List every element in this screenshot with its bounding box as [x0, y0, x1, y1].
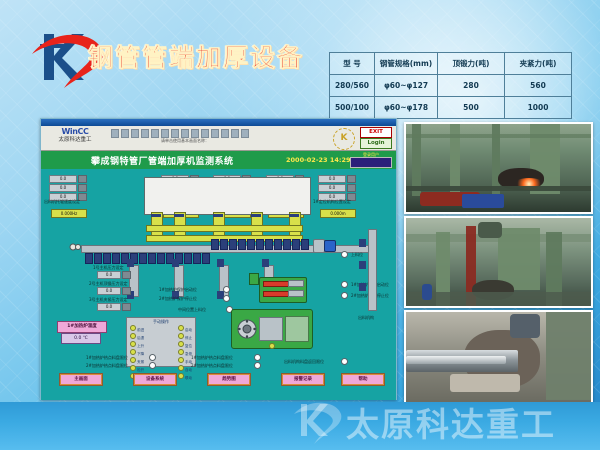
cell-upset: 280 [438, 75, 505, 97]
indicator-lamp [254, 362, 261, 369]
status-lamp-label: 出料机构料盘返回限位 [284, 359, 324, 365]
drive-motor [324, 240, 336, 252]
status-lamp-label: 1#加热炉热点料盘限位 [86, 355, 128, 361]
watermark-logo-icon [292, 400, 342, 444]
slide-canvas: 钢管管端加厚设备 型 号 钢管规格(mm) 顶锻力(吨) 夹紧力(吨) 280/… [0, 0, 600, 450]
valve-icon [69, 243, 81, 251]
panel-item-label[interactable]: 停止 [185, 336, 192, 340]
toolbar-icon[interactable] [241, 129, 249, 138]
photo-pipe-end [404, 310, 593, 406]
indicator-lamp [178, 349, 184, 355]
spec-header-clamp-force: 夹紧力(吨) [505, 53, 572, 75]
furnace-vessel [144, 177, 311, 215]
toolbar-icon[interactable] [161, 129, 169, 138]
unit-tag [122, 303, 131, 311]
hmi-button-system[interactable]: 设备系统 [133, 373, 177, 386]
toolbar-icon[interactable] [221, 129, 229, 138]
value-field[interactable]: 0.0 [49, 175, 77, 183]
unit-tag [347, 184, 356, 192]
value-group-0: 0.0 0.0 0.0 [49, 175, 87, 202]
hmi-button-bar: 主画面 设备系统 趋势图 报警记录 帮助 [41, 373, 396, 389]
setpoint-value[interactable]: 0.0 [97, 303, 121, 311]
clamp [359, 283, 366, 291]
spec-table-header-row: 型 号 钢管规格(mm) 顶锻力(吨) 夹紧力(吨) [330, 53, 572, 75]
wincc-logo: WinCC 太原科达重工 [44, 127, 106, 149]
setpoint-value[interactable]: 0.0 [97, 287, 121, 295]
center-note: 中间位置上料位 [178, 307, 206, 313]
indicator-lamp [341, 292, 348, 299]
indicator-lamp [341, 251, 348, 258]
flywheel-icon [237, 319, 257, 339]
indicator-lamp [130, 325, 136, 331]
indicator-lamp [341, 281, 348, 288]
hmi-button-help[interactable]: 帮助 [341, 373, 385, 386]
user-box: 登录用户 [350, 152, 392, 168]
status-label: 2#加热炉保护停止位 [159, 296, 197, 302]
value-group-caption: 1#定位机构位置设定 [313, 199, 351, 205]
panel-item-label[interactable]: 松开 [137, 368, 144, 372]
spec-table: 型 号 钢管规格(mm) 顶锻力(吨) 夹紧力(吨) 280/560 φ60~φ… [329, 52, 572, 119]
login-button[interactable]: Login [360, 138, 392, 149]
right-caption: 出料机构 [358, 315, 374, 321]
panel-item-label[interactable]: 后退 [137, 336, 144, 340]
panel-item-label[interactable]: 复位 [185, 344, 192, 348]
column-marker [174, 214, 184, 217]
status-lamp-label: 2#加热炉热点料盘限位 [86, 363, 128, 369]
panel-item-label[interactable]: 启动 [185, 328, 192, 332]
clamp [359, 239, 366, 247]
clamp [262, 259, 269, 267]
solenoid [249, 273, 259, 285]
table-row: 280/560 φ60~φ127 280 560 [330, 75, 572, 97]
value-display: 0.000m [320, 209, 356, 218]
cell-size: φ60~φ127 [375, 75, 438, 97]
indicator-lamp [130, 349, 136, 355]
indicator-lamp [223, 286, 230, 293]
indicator-lamp [178, 365, 184, 371]
temperature-value: 0.0 ℃ [61, 333, 101, 344]
machine-frame [259, 317, 283, 341]
clamp [127, 259, 134, 267]
toolbar-icon[interactable] [231, 129, 239, 138]
column-marker [213, 214, 223, 217]
setpoint-value[interactable]: 0.0 [97, 271, 121, 279]
temperature-label: 1#加热炉温度 [57, 321, 107, 333]
cell-model: 500/100 [330, 97, 375, 119]
indicator-lamp [178, 341, 184, 347]
indicator-lamp [254, 354, 261, 361]
hmi-window-titlebar [41, 119, 396, 126]
exit-button[interactable]: EXIT [360, 127, 392, 138]
wincc-sublabel: 太原科达重工 [44, 136, 106, 144]
indicator-lamp [341, 358, 348, 365]
hmi-title-bar: 攀成钢特管厂管端加厚机监测系统 2000-02-23 14:29:24 登录用户 [41, 151, 396, 169]
toolbar-icon[interactable] [211, 129, 219, 138]
discharge-column [368, 229, 377, 311]
indicator-lamp [178, 333, 184, 339]
setpoint-row: 0.0 [97, 303, 131, 311]
machine-guard [285, 316, 309, 342]
panel-item-label[interactable]: 上升 [137, 344, 144, 348]
indicator-lamp [130, 341, 136, 347]
panel-item-label[interactable]: 前进 [137, 328, 144, 332]
valve-port [288, 280, 304, 287]
unit-tag [78, 184, 87, 192]
valve-indicator [263, 281, 289, 287]
toolbar-icon-group[interactable] [111, 129, 249, 138]
hmi-mimic-diagram: 0.0 0.0 0.0 出料机托辊速度设定 0.000Hz 0.0 0.0 0.… [41, 169, 396, 400]
toolbar-icon[interactable] [171, 129, 179, 138]
hmi-button-trend[interactable]: 趋势图 [207, 373, 251, 386]
spec-header-model: 型 号 [330, 53, 375, 75]
clamp [359, 261, 366, 269]
value-display: 0.000Hz [51, 209, 87, 218]
indicator-lamp [178, 357, 184, 363]
indicator-lamp [130, 333, 136, 339]
column-marker [151, 214, 161, 217]
hmi-toolbar: WinCC 太原科达重工 请单击使用基本画面名称： K EXIT Login [41, 126, 396, 151]
value-group-caption: 出料机托辊速度设定 [44, 199, 80, 205]
watermark: 太原科达重工 [290, 396, 600, 450]
indicator-lamp [149, 362, 156, 369]
unit-tag [78, 175, 87, 183]
column-marker [289, 214, 299, 217]
hmi-screenshot: WinCC 太原科达重工 请单击使用基本画面名称： K EXIT Login 攀… [40, 118, 397, 400]
toolbar-icon[interactable] [151, 129, 159, 138]
toolbar-note: 请单击使用基本画面名称： [161, 138, 209, 144]
indicator-lamp [269, 343, 275, 349]
toolbar-icon[interactable] [191, 129, 199, 138]
valve-port [288, 290, 304, 297]
indicator-lamp [130, 365, 136, 371]
hmi-button-main[interactable]: 主画面 [59, 373, 103, 386]
status-lamp-label: 2#加热炉热点料盘限位 [191, 363, 233, 369]
indicator-lamp [223, 295, 230, 302]
toolbar-icon[interactable] [181, 129, 189, 138]
indicator-lamp [130, 357, 136, 363]
setpoint-row: 0.0 [97, 287, 131, 295]
indicator-lamp [178, 325, 184, 331]
cell-clamp: 560 [505, 75, 572, 97]
value-row: 0.0 [49, 184, 87, 192]
furnace-crossbar [146, 225, 303, 232]
unit-tag [122, 287, 131, 295]
toolbar-icon[interactable] [141, 129, 149, 138]
value-row: 0.0 [49, 175, 87, 183]
unit-tag [347, 175, 356, 183]
value-field[interactable]: 0.0 [318, 175, 346, 183]
wincc-label: WinCC [44, 127, 106, 136]
panel-item-label[interactable]: 夹紧 [137, 360, 144, 364]
manual-operation-panel: 手动操作 前进 后退 上升 下降 夹紧 松开 顶锻 启动 停止 [126, 317, 196, 367]
cell-size: φ60~φ178 [375, 97, 438, 119]
clamp [172, 259, 179, 267]
value-row: 0.0 [318, 175, 356, 183]
cell-upset: 500 [438, 97, 505, 119]
toolbar-icon[interactable] [121, 129, 129, 138]
clock-icon: K [333, 128, 355, 150]
hmi-button-alarm[interactable]: 报警记录 [281, 373, 325, 386]
photo-workshop-line [404, 122, 593, 214]
cell-clamp: 1000 [505, 97, 572, 119]
value-group-1: 0.0 0.0 0.0 [318, 175, 356, 202]
indicator-lamp [149, 354, 156, 361]
lamp-label: 上料位 [351, 252, 363, 258]
clamp [217, 259, 224, 267]
toolbar-icon[interactable] [111, 129, 119, 138]
photo-press-frame [404, 216, 593, 308]
spec-header-upset-force: 顶锻力(吨) [438, 53, 505, 75]
value-field[interactable]: 0.0 [318, 184, 346, 192]
valve-indicator [263, 291, 289, 297]
status-label: 1#加热炉保护启动位 [159, 287, 197, 293]
page-title: 钢管管端加厚设备 [88, 38, 304, 74]
panel-item-label[interactable]: 下降 [137, 352, 144, 356]
user-field[interactable] [350, 157, 392, 168]
toolbar-icon[interactable] [131, 129, 139, 138]
value-row: 0.0 [318, 184, 356, 192]
toolbar-icon[interactable] [201, 129, 209, 138]
cell-model: 280/560 [330, 75, 375, 97]
table-row: 500/100 φ60~φ178 500 1000 [330, 97, 572, 119]
unit-tag [122, 271, 131, 279]
column-marker [251, 214, 261, 217]
spec-header-size: 钢管规格(mm) [375, 53, 438, 75]
status-lamp-label: 1#加热炉热点料盘限位 [191, 355, 233, 361]
setpoint-row: 0.0 [97, 271, 131, 279]
watermark-text: 太原科达重工 [346, 398, 556, 446]
hmi-screen-title: 攀成钢特管厂管端加厚机监测系统 [91, 154, 234, 167]
value-field[interactable]: 0.0 [49, 184, 77, 192]
